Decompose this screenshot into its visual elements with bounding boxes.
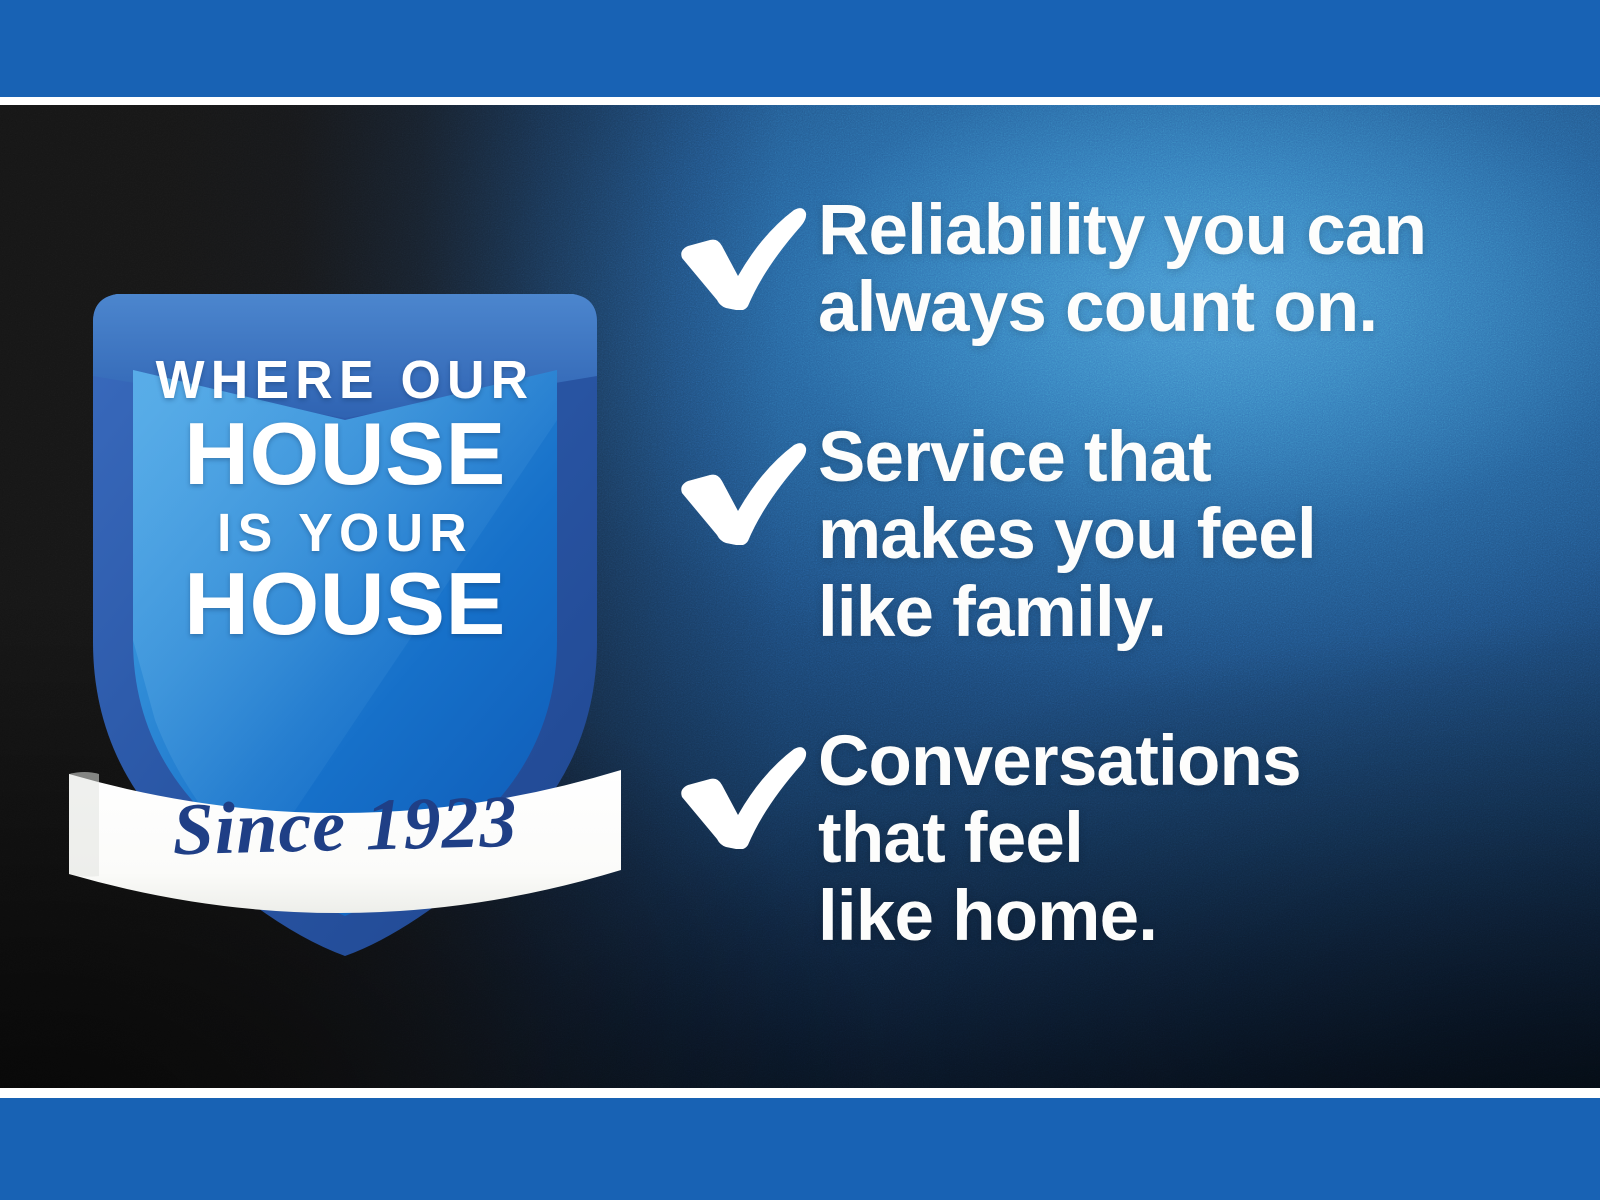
benefit-text: Service that makes you feel like family. xyxy=(818,419,1508,651)
checkmark-glyph xyxy=(676,745,808,849)
company-shield-badge: WHERE OUR HOUSE IS YOUR HOUSE Since 1923 xyxy=(55,170,635,960)
checkmark-icon xyxy=(668,190,818,302)
benefit-text: Reliability you can always count on. xyxy=(818,190,1508,347)
checkmark-icon xyxy=(668,419,818,531)
top-brand-bar xyxy=(0,0,1600,97)
checkmark-glyph xyxy=(676,441,808,545)
shield-ribbon-shadow xyxy=(69,772,99,877)
checkmark-icon xyxy=(668,723,818,835)
benefits-list: Reliability you can always count on. Ser… xyxy=(668,190,1508,955)
benefit-item: Service that makes you feel like family. xyxy=(668,419,1508,651)
shield-graphic xyxy=(55,170,635,960)
benefit-item: Reliability you can always count on. xyxy=(668,190,1508,347)
benefit-item: Conversations that feel like home. xyxy=(668,723,1508,955)
bottom-brand-bar xyxy=(0,1098,1600,1200)
checkmark-glyph xyxy=(676,206,808,310)
promotional-graphic: WHERE OUR HOUSE IS YOUR HOUSE Since 1923… xyxy=(0,0,1600,1200)
benefit-text: Conversations that feel like home. xyxy=(818,723,1508,955)
